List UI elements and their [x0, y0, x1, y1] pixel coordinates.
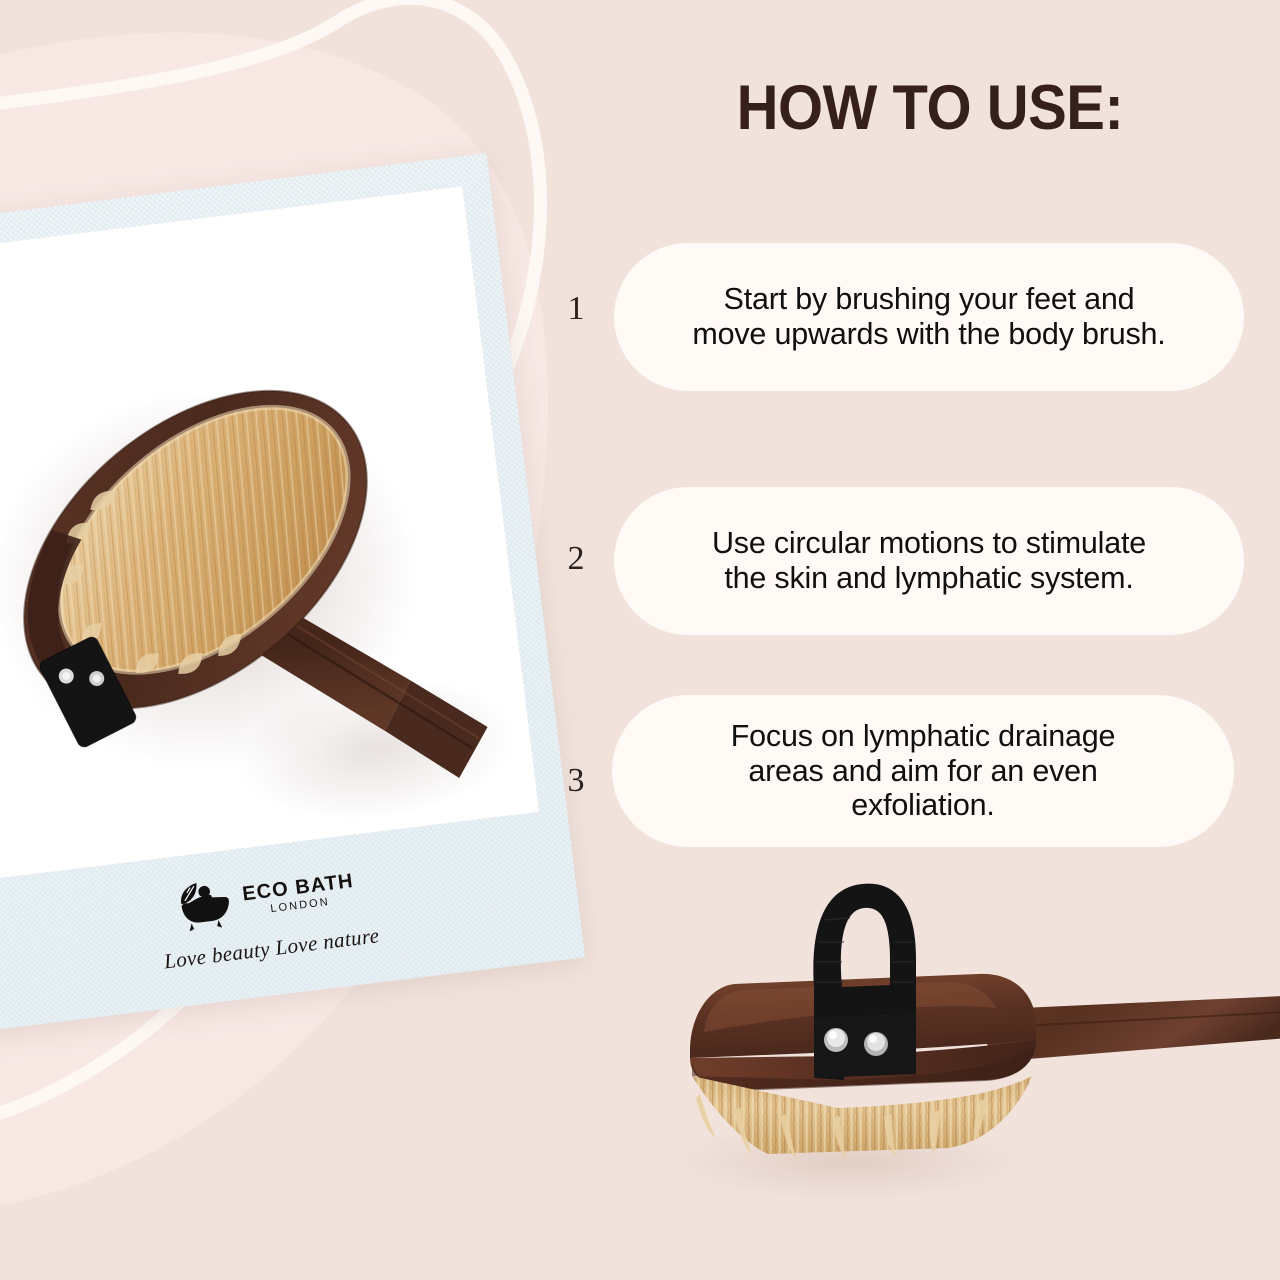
poster-canvas: HOW TO USE: 1 Start by brushing your fee… — [0, 0, 1280, 1280]
bathtub-leaf-icon — [174, 876, 238, 935]
polaroid-card: ECO BATH LONDON Love beauty Love nature — [0, 153, 585, 1033]
step-number-1: 1 — [556, 290, 596, 328]
step-number-2: 2 — [556, 540, 596, 578]
step-pill-2: Use circular motions to stimulate the sk… — [614, 487, 1244, 635]
step-pill-3: Focus on lymphatic drainage areas and ai… — [612, 695, 1234, 847]
product-image-brush-front — [648, 862, 1280, 1212]
step-text-2: Use circular motions to stimulate the sk… — [712, 526, 1146, 596]
step-text-1: Start by brushing your feet and move upw… — [692, 282, 1165, 352]
brand-logo: ECO BATH LONDON — [174, 862, 358, 935]
step-text-3: Focus on lymphatic drainage areas and ai… — [731, 719, 1116, 823]
product-image-brush-angled — [0, 213, 539, 880]
polaroid-photo — [0, 186, 539, 880]
step-pill-1: Start by brushing your feet and move upw… — [614, 243, 1244, 391]
polaroid-frame: ECO BATH LONDON Love beauty Love nature — [0, 153, 585, 1033]
